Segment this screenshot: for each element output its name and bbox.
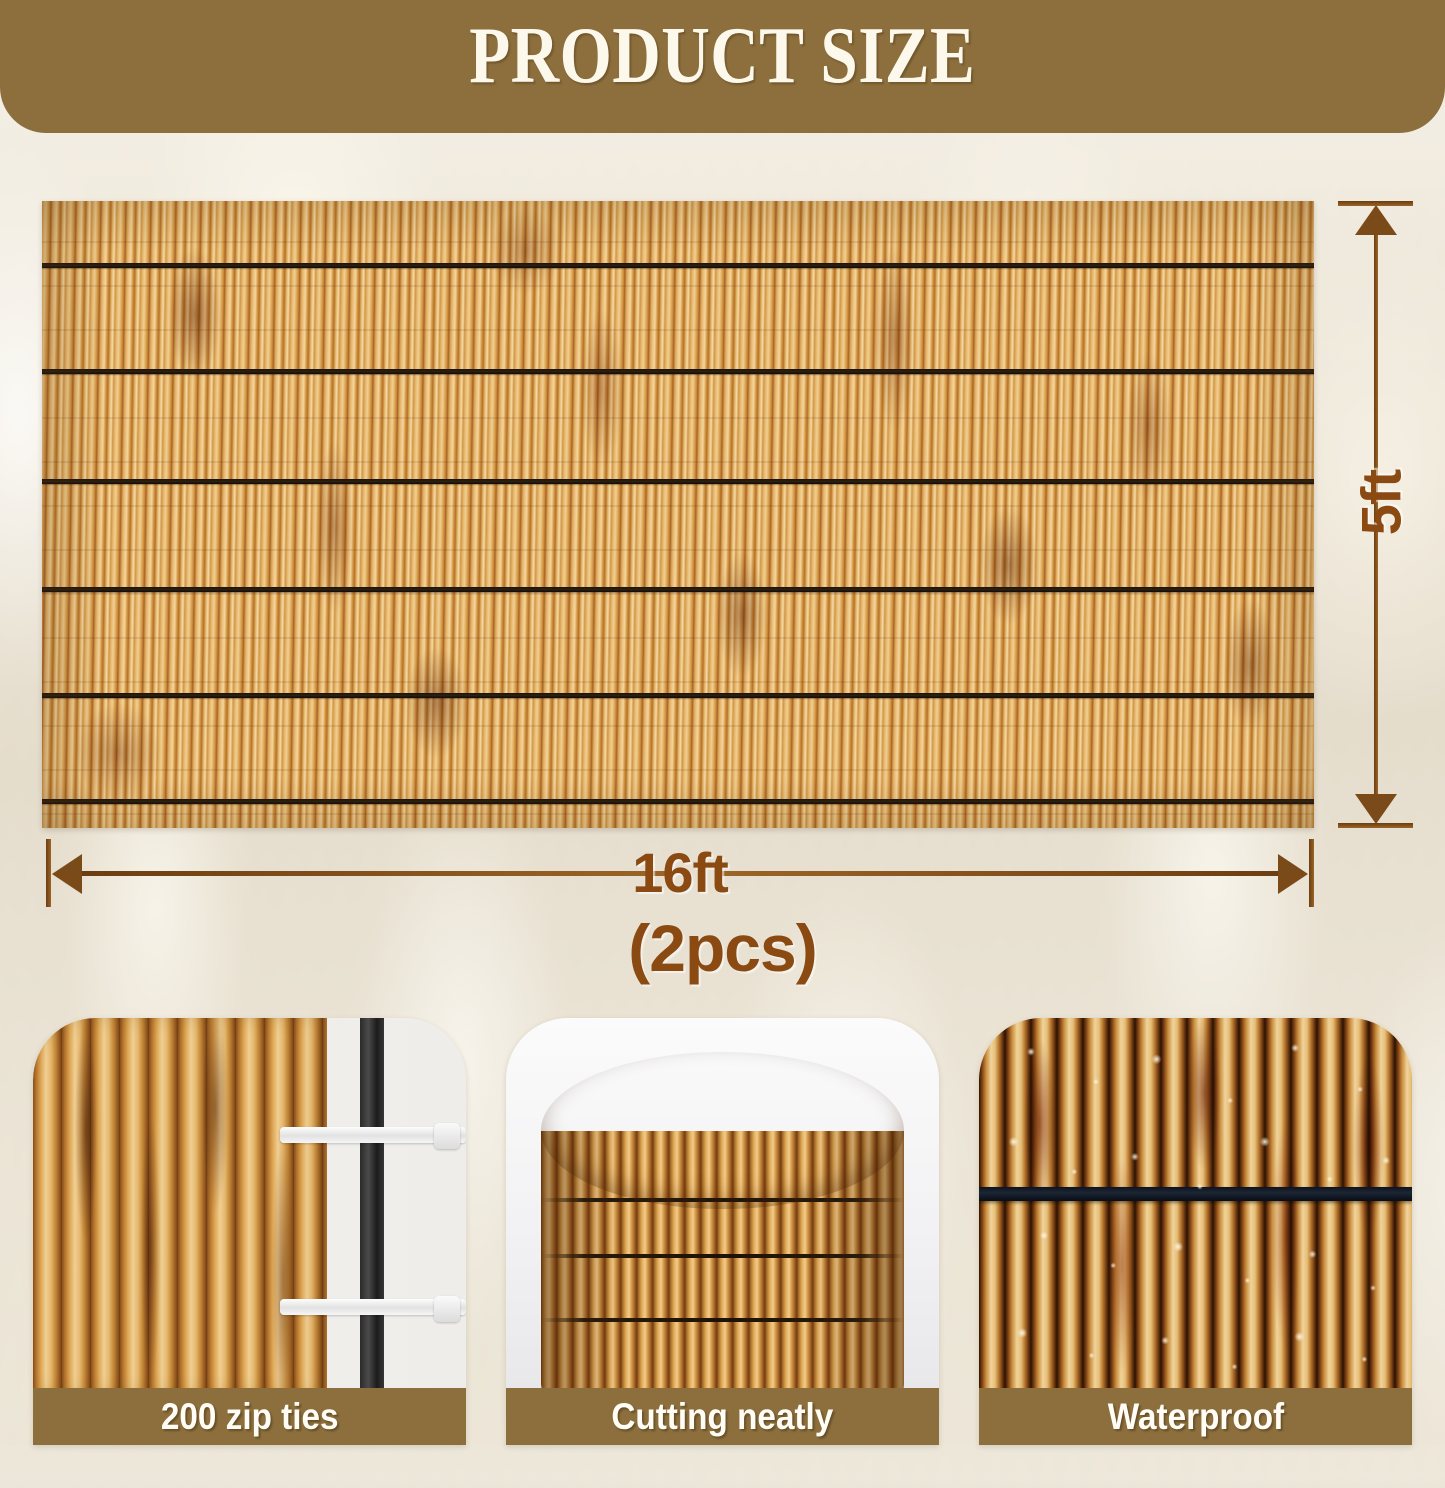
- dimension-cap-right: [1309, 839, 1314, 907]
- arrow-left-icon: [52, 854, 82, 894]
- product-main-image: [42, 201, 1314, 828]
- zip-tie-head: [434, 1296, 460, 1322]
- zip-tie-head: [434, 1123, 460, 1149]
- feature-caption-text: Waterproof: [1107, 1396, 1283, 1438]
- arrow-up-icon: [1355, 205, 1397, 235]
- feature-caption-text: 200 zip ties: [161, 1396, 339, 1438]
- dimension-shaft-right: [722, 871, 1286, 876]
- product-size-banner: PRODUCT SIZE: [0, 0, 1445, 133]
- dimension-cap-left: [46, 839, 51, 907]
- black-post: [360, 1018, 384, 1393]
- feature-image-zip-ties: [33, 1018, 466, 1393]
- dimension-shaft-left: [74, 871, 667, 876]
- width-dimension-arrow: 16ft: [46, 846, 1314, 902]
- width-label: 16ft: [632, 840, 728, 905]
- quantity-label: (2pcs): [0, 910, 1445, 986]
- reed-sticks-shading: [33, 1018, 327, 1393]
- feature-caption-bar: Cutting neatly: [506, 1388, 939, 1445]
- feature-card-waterproof[interactable]: Waterproof: [979, 1018, 1412, 1445]
- page-title: PRODUCT SIZE: [469, 16, 975, 96]
- roll-binding-wire: [541, 1254, 905, 1258]
- arrow-right-icon: [1278, 854, 1308, 894]
- feature-caption-text: Cutting neatly: [611, 1396, 833, 1438]
- height-label: 5ft: [1349, 458, 1414, 548]
- reed-edge-shading: [42, 201, 1314, 828]
- feature-image-roll: [506, 1018, 939, 1393]
- feature-image-waterproof: [979, 1018, 1412, 1393]
- feature-card-cutting-neatly[interactable]: Cutting neatly: [506, 1018, 939, 1445]
- dimension-cap-bottom: [1338, 823, 1413, 828]
- arrow-down-icon: [1355, 794, 1397, 824]
- water-droplets: [979, 1018, 1412, 1393]
- feature-cards: 200 zip ties Cutting neatly Waterproof: [33, 1018, 1413, 1445]
- feature-caption-bar: 200 zip ties: [33, 1388, 466, 1445]
- feature-card-zip-ties[interactable]: 200 zip ties: [33, 1018, 466, 1445]
- roll-binding-wire: [541, 1318, 905, 1322]
- reed-roll-cut-end: [541, 1052, 905, 1210]
- feature-caption-bar: Waterproof: [979, 1388, 1412, 1445]
